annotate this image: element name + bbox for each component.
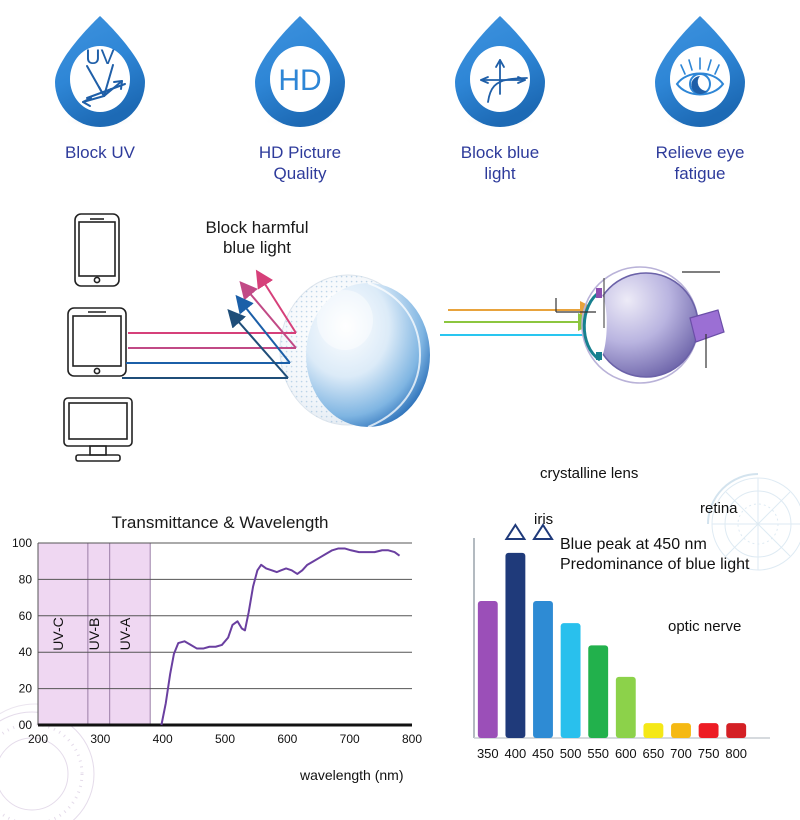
bar-tick-400: 400 [505, 746, 527, 761]
feature-label-block-blue-light: Block bluelight [461, 142, 539, 185]
lens-shape [280, 275, 430, 427]
feature-label-relieve-eye-fatigue: Relieve eyefatigue [656, 142, 745, 185]
bar-350 [478, 601, 498, 738]
charts-row: Transmittance & Wavelength 0020406080100… [0, 495, 800, 800]
x-tick: 300 [90, 732, 110, 746]
bar-400 [505, 553, 525, 738]
bar-800 [726, 723, 746, 738]
triangle-marker-450 [534, 525, 552, 539]
feature-label-hd-picture-quality: HD PictureQuality [259, 142, 341, 185]
uv-icon-text: UV [85, 46, 114, 69]
bar-700 [671, 723, 691, 738]
chart-title: Transmittance & Wavelength [70, 513, 370, 533]
bar-500 [561, 623, 581, 738]
hd-icon-text: HD [278, 64, 321, 97]
bar-550 [588, 645, 608, 738]
uv-shield-droplet-icon: UV [41, 10, 159, 128]
band-label-uv-c: UV-C [50, 617, 66, 650]
x-tick: 600 [277, 732, 297, 746]
bar-600 [616, 677, 636, 738]
eye-droplet-icon [641, 10, 759, 128]
bar-450 [533, 601, 553, 738]
bar-tick-650: 650 [643, 746, 665, 761]
bar-tick-600: 600 [615, 746, 637, 761]
feature-label-block-uv: Block UV [65, 142, 135, 163]
bar-tick-500: 500 [560, 746, 582, 761]
x-tick: 800 [402, 732, 422, 746]
band-label-uv-b: UV-B [86, 618, 102, 651]
bar-tick-450: 450 [532, 746, 554, 761]
x-tick: 400 [153, 732, 173, 746]
y-tick: 40 [19, 645, 33, 659]
x-tick: 700 [340, 732, 360, 746]
transmittance-curve [161, 548, 399, 725]
band-label-uv-a: UV-A [117, 617, 133, 650]
bar-tick-700: 700 [670, 746, 692, 761]
y-tick: 20 [19, 682, 33, 696]
feature-relieve-eye-fatigue[interactable]: Relieve eyefatigue [600, 10, 800, 200]
y-tick: 00 [19, 718, 33, 732]
hd-droplet-icon: HD [241, 10, 359, 128]
triangle-marker-400 [506, 525, 524, 539]
lens-and-eye-diagram [0, 200, 800, 490]
bar-tick-750: 750 [698, 746, 720, 761]
x-tick: 200 [28, 732, 48, 746]
bar-650 [643, 723, 663, 738]
blue-light-diagram: Block harmfulblue light [0, 200, 800, 490]
y-tick: 60 [19, 609, 33, 623]
y-tick: 100 [12, 536, 32, 550]
feature-row: UV Block UV HD HD PictureQuality [0, 10, 800, 200]
x-tick: 500 [215, 732, 235, 746]
y-tick: 80 [19, 572, 33, 586]
blue-light-curve-droplet-icon [441, 10, 559, 128]
feature-block-uv[interactable]: UV Block UV [0, 10, 200, 200]
bar-tick-550: 550 [587, 746, 609, 761]
infographic-page: UV Block UV HD HD PictureQuality [0, 0, 800, 800]
label-crystalline-lens: crystalline lens [540, 465, 638, 482]
bar-tick-350: 350 [477, 746, 499, 761]
eyeball-diagram [556, 267, 724, 383]
bar-750 [699, 723, 719, 738]
bar-tick-800: 800 [725, 746, 747, 761]
feature-block-blue-light[interactable]: Block bluelight [400, 10, 600, 200]
x-axis-title: wavelength (nm) [300, 767, 404, 783]
feature-hd-picture-quality[interactable]: HD HD PictureQuality [200, 10, 400, 200]
blocked-rays [122, 273, 296, 378]
